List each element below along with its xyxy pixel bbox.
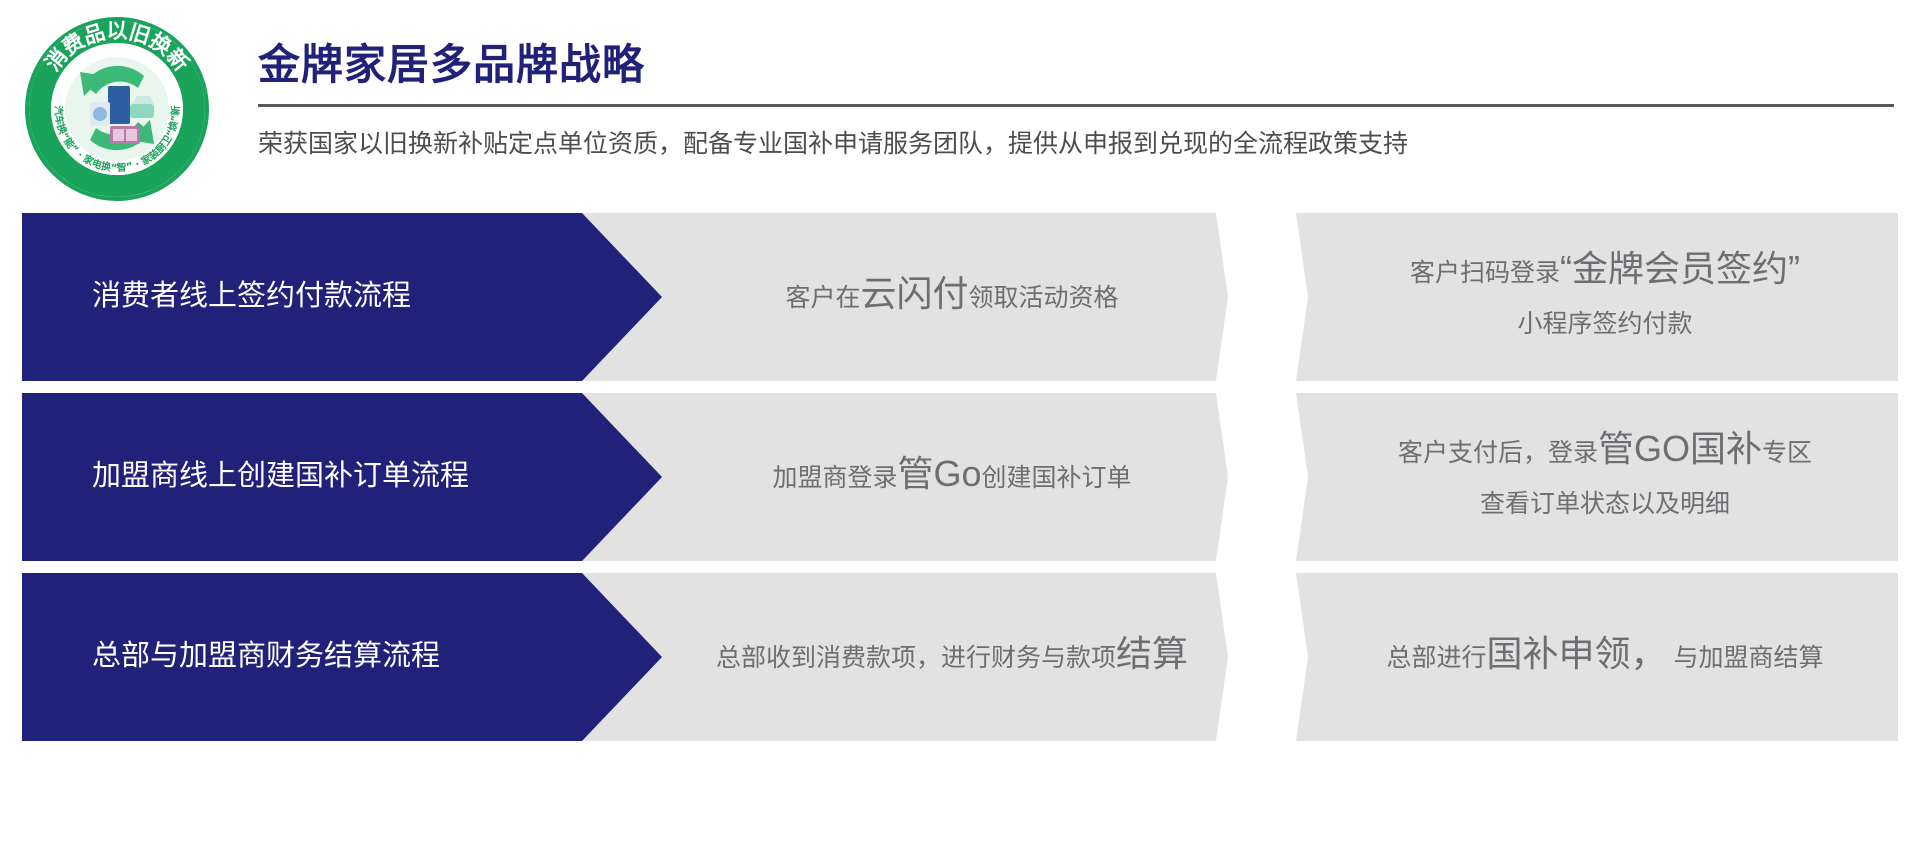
flow-step-middle[interactable]: 客户在云闪付领取活动资格 bbox=[682, 213, 1222, 381]
flow-stage-label-block[interactable]: 总部与加盟商财务结算流程 bbox=[22, 573, 662, 741]
flow-step-text-line1: 总部进行国补申领， 与加盟商结算 bbox=[1387, 636, 1824, 678]
chevron-arrow-icon bbox=[1216, 573, 1308, 741]
flow-step-text: 加盟商登录管Go创建国补订单 bbox=[772, 456, 1131, 498]
slide-canvas: 消费品以旧换新 汽车换“能” · 家电换“智” · 家装厨卫“焕”新 金牌家居多… bbox=[0, 0, 1920, 865]
header-text-block: 金牌家居多品牌战略 荣获国家以旧换新补贴定点单位资质，配备专业国补申请服务团队，… bbox=[258, 40, 1898, 162]
text-emphasis: 国补申领， bbox=[1487, 633, 1667, 674]
text-pre: 加盟商登录 bbox=[772, 464, 897, 492]
text-post: 与加盟商结算 bbox=[1667, 644, 1824, 672]
process-flow-diagram: 消费者线上签约付款流程 客户在云闪付领取活动资格 客户扫码登录“金牌会员签约” … bbox=[22, 213, 1898, 741]
text-emphasis: 结算 bbox=[1116, 633, 1188, 674]
flow-step-text-line1: 客户支付后，登录管GO国补专区 bbox=[1398, 431, 1812, 473]
text-emphasis: 云闪付 bbox=[860, 273, 968, 314]
flow-stage-label: 消费者线上签约付款流程 bbox=[22, 277, 507, 316]
flow-step-right[interactable]: 总部进行国补申领， 与加盟商结算 bbox=[1312, 573, 1898, 741]
flow-step-text-line1: 客户扫码登录“金牌会员签约” bbox=[1410, 251, 1800, 293]
text-pre: 总部收到消费款项，进行财务与款项 bbox=[716, 644, 1116, 672]
text-pre: 总部进行 bbox=[1387, 644, 1487, 672]
flow-step-text: 客户在云闪付领取活动资格 bbox=[785, 276, 1118, 318]
flow-step-text-line2: 查看订单状态以及明细 bbox=[1480, 486, 1730, 524]
chevron-arrow-icon bbox=[1216, 393, 1308, 561]
flow-stage-label-block[interactable]: 加盟商线上创建国补订单流程 bbox=[22, 393, 662, 561]
text-pre: 客户支付后，登录 bbox=[1398, 439, 1598, 467]
flow-step-right[interactable]: 客户扫码登录“金牌会员签约” 小程序签约付款 bbox=[1312, 213, 1898, 381]
page-title: 金牌家居多品牌战略 bbox=[258, 40, 1898, 90]
text-pre: 客户扫码登录 bbox=[1410, 259, 1560, 287]
text-post: 创建国补订单 bbox=[982, 464, 1132, 492]
flow-stage-label-block[interactable]: 消费者线上签约付款流程 bbox=[22, 213, 662, 381]
chevron-arrow-icon bbox=[1216, 213, 1308, 381]
flow-row: 加盟商线上创建国补订单流程 加盟商登录管Go创建国补订单 客户支付后，登录管GO… bbox=[22, 393, 1898, 561]
flow-row: 消费者线上签约付款流程 客户在云闪付领取活动资格 客户扫码登录“金牌会员签约” … bbox=[22, 213, 1898, 381]
text-post: 领取活动资格 bbox=[969, 284, 1119, 312]
title-divider bbox=[258, 104, 1894, 107]
page-subtitle: 荣获国家以旧换新补贴定点单位资质，配备专业国补申请服务团队，提供从申报到兑现的全… bbox=[258, 127, 1898, 162]
flow-step-text: 总部收到消费款项，进行财务与款项结算 bbox=[716, 636, 1188, 678]
text-pre: 客户在 bbox=[785, 284, 860, 312]
flow-stage-label: 加盟商线上创建国补订单流程 bbox=[22, 457, 565, 496]
text-post: 专区 bbox=[1762, 439, 1812, 467]
flow-stage-label: 总部与加盟商财务结算流程 bbox=[22, 637, 536, 676]
flow-row: 总部与加盟商财务结算流程 总部收到消费款项，进行财务与款项结算 总部进行国补申领… bbox=[22, 573, 1898, 741]
flow-step-middle[interactable]: 总部收到消费款项，进行财务与款项结算 bbox=[682, 573, 1222, 741]
flow-step-text-line2: 小程序签约付款 bbox=[1517, 306, 1692, 344]
text-emphasis: 管GO国补 bbox=[1598, 428, 1762, 469]
flow-step-middle[interactable]: 加盟商登录管Go创建国补订单 bbox=[682, 393, 1222, 561]
trade-in-program-badge-icon: 消费品以旧换新 汽车换“能” · 家电换“智” · 家装厨卫“焕”新 bbox=[22, 14, 212, 204]
flow-step-right[interactable]: 客户支付后，登录管GO国补专区 查看订单状态以及明细 bbox=[1312, 393, 1898, 561]
text-emphasis: “金牌会员签约” bbox=[1560, 248, 1800, 289]
text-emphasis: 管Go bbox=[897, 453, 981, 494]
header: 消费品以旧换新 汽车换“能” · 家电换“智” · 家装厨卫“焕”新 金牌家居多… bbox=[0, 0, 1920, 205]
